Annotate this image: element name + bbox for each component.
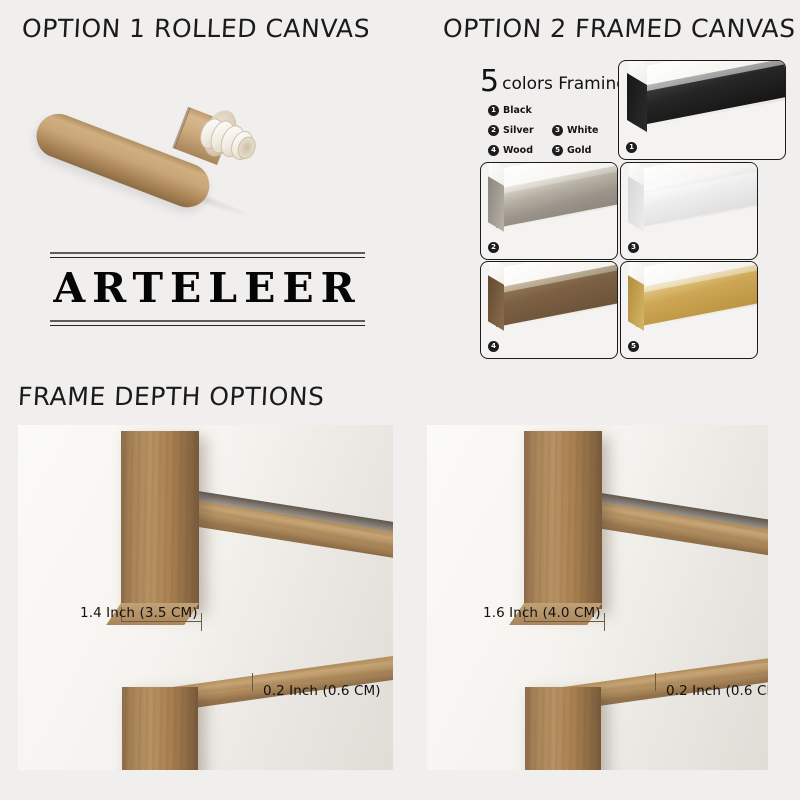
frame-corner-render <box>621 262 757 358</box>
section-title-frame-depth: FRAME DEPTH OPTIONS <box>17 382 325 411</box>
logo-rule-bottom <box>50 320 365 327</box>
vertical-stile <box>121 431 199 609</box>
logo-rule-top <box>50 252 365 259</box>
depth-dimension-label: 1.4 Inch (3.5 CM) <box>80 605 198 621</box>
swatch-number-badge: 4 <box>488 341 499 352</box>
brand-name: ARTELEER <box>50 259 365 320</box>
swatch-number-badge: 3 <box>628 242 639 253</box>
frame-depth-photo-left: 1.4 Inch (3.5 CM) 0.2 Inch (0.6 CM) <box>18 425 393 770</box>
frame-left-return <box>628 275 644 331</box>
gold-frame-swatch[interactable]: 5 <box>620 261 758 359</box>
swatch-number-badge: 5 <box>628 341 639 352</box>
legend-label: White <box>567 125 598 136</box>
framing-heading: 5colors Framing <box>480 64 627 99</box>
thickness-dimension-tick <box>655 673 656 691</box>
legend-row: 1 Black <box>488 105 623 116</box>
lower-stile <box>122 687 198 770</box>
legend-number-badge: 3 <box>552 125 563 136</box>
framing-color-legend: 1 Black 2 Silver 3 White 4 Wood <box>488 105 623 165</box>
legend-row: 4 Wood 5 Gold <box>488 145 623 156</box>
frame-left-return <box>628 176 644 232</box>
framing-colors-panel: 5colors Framing 1 Black 2 Silver 3 White <box>470 58 788 358</box>
thickness-dimension-tick <box>252 673 253 691</box>
legend-number-badge: 4 <box>488 145 499 156</box>
depth-dimension-line <box>524 621 605 622</box>
wall-shading <box>18 425 393 770</box>
thickness-dimension-label: 0.2 Inch (0.6 CM) <box>666 683 768 699</box>
legend-label: Black <box>503 105 532 116</box>
lower-stile <box>525 687 601 770</box>
depth-dimension-line <box>121 621 202 622</box>
section-title-option-2: OPTION 2 FRAMED CANVAS <box>442 14 796 43</box>
section-title-option-1: OPTION 1 ROLLED CANVAS <box>21 14 371 43</box>
legend-item-wood: 4 Wood <box>488 145 552 156</box>
legend-number-badge: 2 <box>488 125 499 136</box>
framing-heading-text: colors Framing <box>502 74 627 94</box>
legend-item-black: 1 Black <box>488 105 552 116</box>
frame-corner-render <box>621 163 757 259</box>
legend-item-white: 3 White <box>552 125 616 136</box>
frame-depth-photo-right: 1.6 Inch (4.0 CM) 0.2 Inch (0.6 CM) <box>427 425 768 770</box>
wood-grain <box>524 431 602 609</box>
framing-count: 5 <box>480 64 499 99</box>
legend-row: 2 Silver 3 White <box>488 125 623 136</box>
vertical-stile <box>524 431 602 609</box>
white-frame-swatch[interactable]: 3 <box>620 162 758 260</box>
legend-number-badge: 1 <box>488 105 499 116</box>
legend-item-gold: 5 Gold <box>552 145 616 156</box>
product-infographic: OPTION 1 ROLLED CANVAS ARTELEER OPTION 2… <box>0 0 800 800</box>
frame-corner-render <box>481 163 617 259</box>
depth-dimension-label: 1.6 Inch (4.0 CM) <box>483 605 601 621</box>
frame-corner-render <box>619 61 785 159</box>
frame-left-return <box>488 176 504 232</box>
silver-frame-swatch[interactable]: 2 <box>480 162 618 260</box>
depth-dimension-tick <box>201 613 202 631</box>
legend-label: Wood <box>503 145 533 156</box>
rolled-canvas-tube-illustration <box>30 62 280 197</box>
frame-corner-render <box>481 262 617 358</box>
legend-item-silver: 2 Silver <box>488 125 552 136</box>
black-frame-swatch[interactable]: 1 <box>618 60 786 160</box>
depth-dimension-tick <box>604 613 605 631</box>
wood-grain <box>121 431 199 609</box>
wood-grain <box>122 687 198 770</box>
legend-number-badge: 5 <box>552 145 563 156</box>
swatch-number-badge: 2 <box>488 242 499 253</box>
frame-left-return <box>488 275 504 331</box>
wood-frame-swatch[interactable]: 4 <box>480 261 618 359</box>
brand-logo: ARTELEER <box>50 252 365 327</box>
swatch-number-badge: 1 <box>626 142 637 153</box>
legend-label: Silver <box>503 125 534 136</box>
thickness-dimension-label: 0.2 Inch (0.6 CM) <box>263 683 381 699</box>
legend-label: Gold <box>567 145 591 156</box>
wood-grain <box>525 687 601 770</box>
